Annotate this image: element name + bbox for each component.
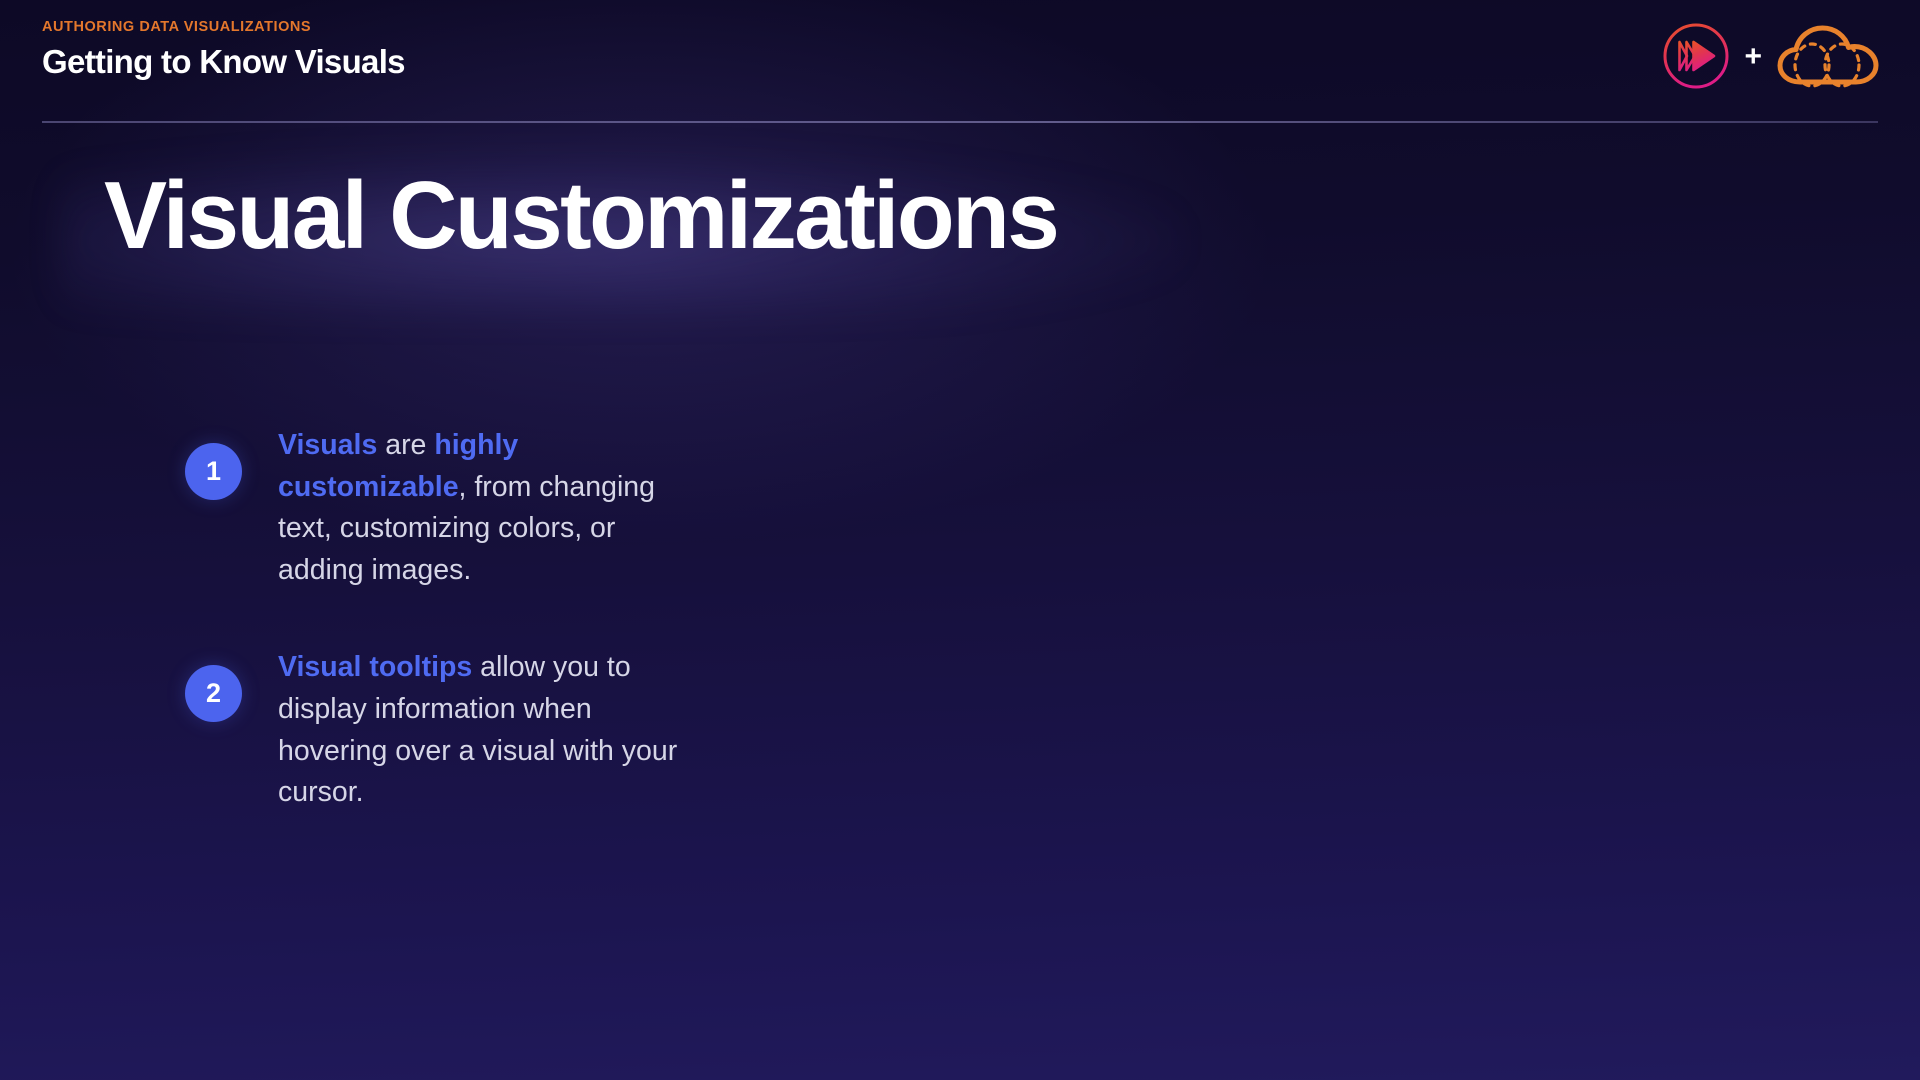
bullet-number-badge: 1 — [185, 443, 242, 500]
page-title: Visual Customizations — [104, 164, 1920, 268]
header-text-block: AUTHORING DATA VISUALIZATIONS Getting to… — [42, 20, 405, 80]
header-logo-group: + — [1662, 18, 1880, 94]
bullet-list: 1 Visuals are highly customizable, from … — [185, 425, 805, 870]
main-title-area: Visual Customizations — [0, 150, 1920, 254]
bullet-lead-text: Visuals — [278, 429, 377, 461]
cloud-logo-icon — [1776, 24, 1880, 88]
bullet-text: Visual tooltips allow you to display inf… — [278, 647, 708, 813]
slide-canvas: AUTHORING DATA VISUALIZATIONS Getting to… — [0, 0, 1920, 1080]
plus-separator-icon: + — [1744, 42, 1762, 72]
header-eyebrow: AUTHORING DATA VISUALIZATIONS — [42, 20, 405, 35]
header-title: Getting to Know Visuals — [42, 44, 405, 81]
bullet-text: Visuals are highly customizable, from ch… — [278, 425, 708, 591]
bullet-mid-text: are — [377, 429, 434, 461]
list-item: 2 Visual tooltips allow you to display i… — [185, 647, 805, 813]
play-circle-logo-icon — [1662, 22, 1730, 90]
list-item: 1 Visuals are highly customizable, from … — [185, 425, 805, 591]
bullet-number-badge: 2 — [185, 665, 242, 722]
slide-header: AUTHORING DATA VISUALIZATIONS Getting to… — [0, 0, 1920, 128]
bullet-lead-text: Visual tooltips — [278, 651, 472, 683]
header-divider — [42, 121, 1878, 123]
